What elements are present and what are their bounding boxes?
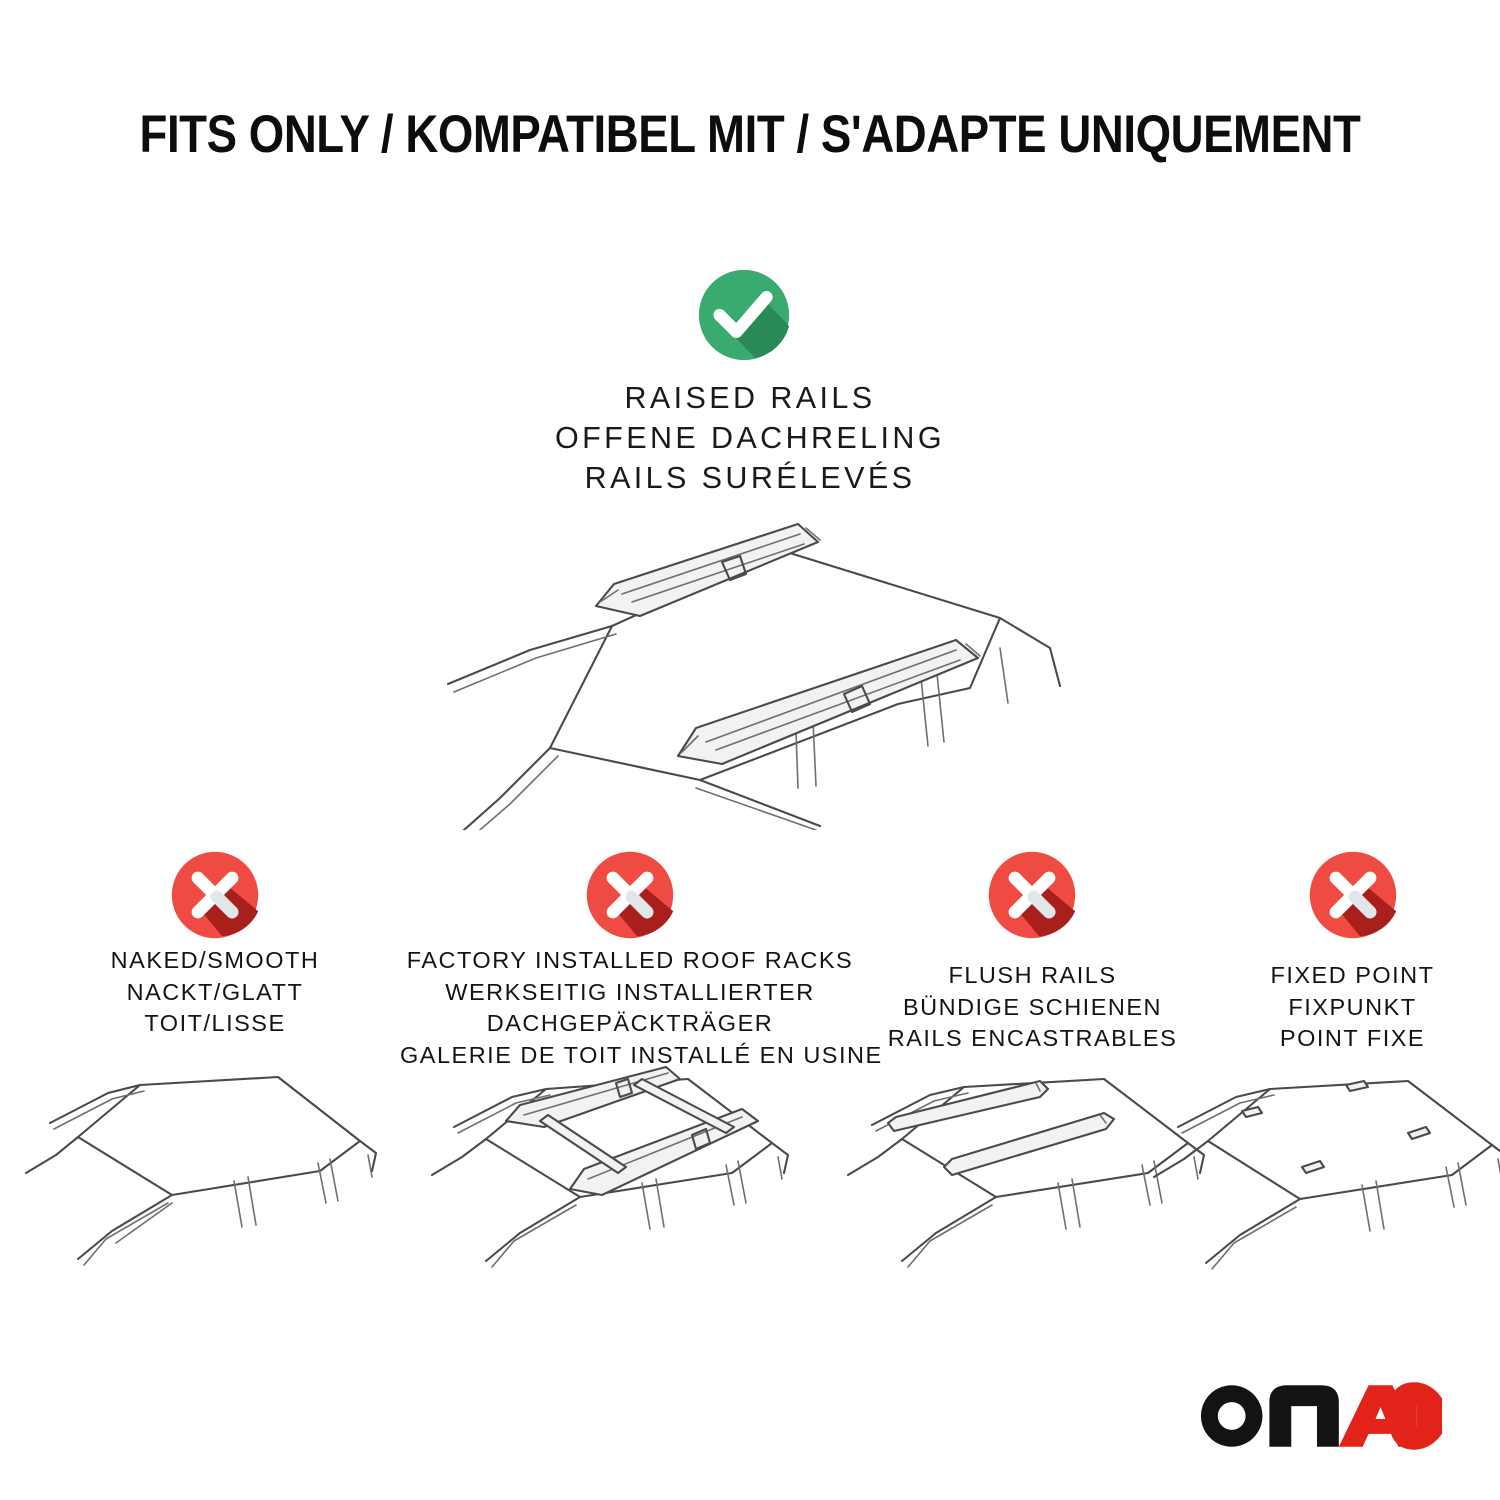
car-roof-raised-rails-illustration (400, 498, 1100, 830)
label-line-1: NAKED/SMOOTH (0, 945, 430, 977)
label-line-2: BÜNDIGE SCHIENEN (860, 992, 1205, 1024)
fitment-guide-page: FITS ONLY / KOMPATIBEL MIT / S'ADAPTE UN… (0, 0, 1500, 1500)
incompatible-label-fixed-point: FIXED POINT FIXPUNKT POINT FIXE (1205, 960, 1500, 1055)
car-roof-naked-smooth-illustration (20, 1055, 400, 1285)
label-line-2: FIXPUNKT (1205, 992, 1500, 1024)
compatible-label-line-1: RAISED RAILS (0, 378, 1500, 418)
x-circle-icon (585, 850, 675, 940)
x-circle-icon (170, 850, 260, 940)
label-line-1: FACTORY INSTALLED ROOF RACKS (400, 945, 860, 977)
label-line-1: FIXED POINT (1205, 960, 1500, 992)
page-title: FITS ONLY / KOMPATIBEL MIT / S'ADAPTE UN… (105, 104, 1395, 165)
car-roof-fixed-point-illustration (1150, 1055, 1500, 1285)
car-roof-factory-roof-racks-illustration (420, 1055, 820, 1285)
incompatible-label-factory-roof-racks: FACTORY INSTALLED ROOF RACKS WERKSEITIG … (400, 945, 860, 1071)
check-circle-icon (697, 268, 791, 362)
compatible-label-line-2: OFFENE DACHRELING (0, 418, 1500, 458)
label-line-3: DACHGEPÄCKTRÄGER (400, 1008, 860, 1040)
label-line-1: FLUSH RAILS (860, 960, 1205, 992)
label-line-3: RAILS ENCASTRABLES (860, 1023, 1205, 1055)
x-circle-icon (1308, 850, 1398, 940)
incompatible-label-naked-smooth: NAKED/SMOOTH NACKT/GLATT TOIT/LISSE (0, 945, 430, 1040)
label-line-3: POINT FIXE (1205, 1023, 1500, 1055)
label-line-2: NACKT/GLATT (0, 977, 430, 1009)
compatible-label: RAISED RAILS OFFENE DACHRELING RAILS SUR… (0, 378, 1500, 498)
x-circle-icon (987, 850, 1077, 940)
omac-logo (1194, 1376, 1442, 1452)
label-line-2: WERKSEITIG INSTALLIERTER (400, 977, 860, 1009)
label-line-3: TOIT/LISSE (0, 1008, 430, 1040)
incompatible-label-flush-rails: FLUSH RAILS BÜNDIGE SCHIENEN RAILS ENCAS… (860, 960, 1205, 1055)
compatible-label-line-3: RAILS SURÉLEVÉS (0, 458, 1500, 498)
